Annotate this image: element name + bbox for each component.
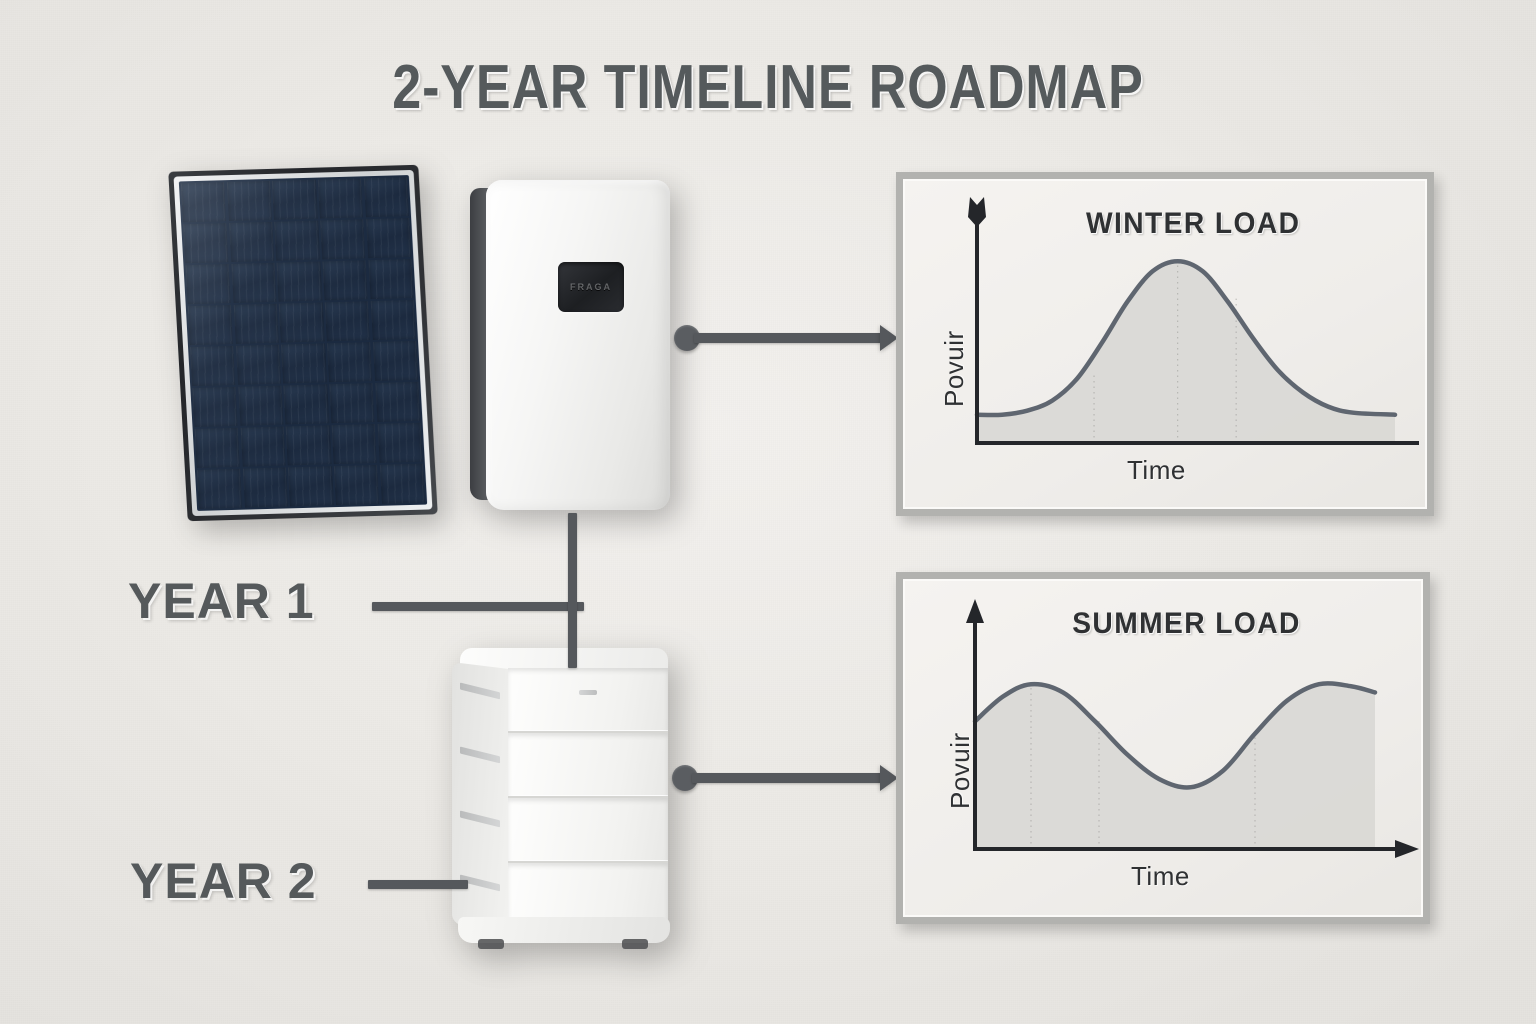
solar-cell [238, 386, 283, 426]
chart-area-fill [975, 683, 1375, 849]
year2-connector-line [368, 880, 468, 889]
solar-cell [231, 263, 276, 303]
solar-cell [185, 264, 230, 304]
solar-cell [272, 180, 317, 220]
solar-cell [332, 424, 377, 464]
solar-cell [373, 341, 418, 381]
page-title: 2-YEAR TIMELINE ROADMAP [123, 52, 1413, 123]
summer-x-axis-label: Time [1131, 861, 1190, 892]
solar-cell [375, 382, 420, 422]
battery-foot [622, 939, 648, 949]
solar-cell [377, 423, 422, 463]
battery-left-face [452, 662, 514, 932]
solar-cell [243, 468, 288, 508]
winter-y-axis-label: Povuir [939, 330, 970, 407]
battery-module-tag [460, 811, 500, 828]
solar-cell [286, 426, 331, 466]
solar-cell [181, 182, 226, 222]
solar-cell [275, 221, 320, 261]
battery-module [508, 796, 668, 861]
solar-cell-grid [179, 175, 427, 511]
chart-area-fill [977, 261, 1395, 443]
solar-cell [288, 467, 333, 507]
solar-cell [183, 223, 228, 263]
x-axis-arrow-icon [1395, 840, 1419, 858]
solar-cell [229, 222, 274, 262]
solar-cell [380, 464, 425, 504]
battery-foot [478, 939, 504, 949]
solar-cell [334, 465, 379, 505]
solar-cell [325, 301, 370, 341]
solar-cell [233, 304, 278, 344]
solar-cell [329, 383, 374, 423]
solar-cell [320, 219, 365, 259]
inverter-to-winter-line [694, 333, 890, 343]
solar-cell [371, 300, 416, 340]
summer-y-axis-label: Povuir [945, 732, 976, 809]
solar-cell [188, 305, 233, 345]
solar-cell [236, 345, 281, 385]
solar-cell [284, 385, 329, 425]
year-1-label: YEAR 1 [128, 572, 315, 630]
battery-module-tag [460, 747, 500, 764]
solar-cell [240, 427, 285, 467]
battery-module-tag [460, 683, 500, 700]
battery-module [508, 668, 668, 731]
battery-to-summer-line [692, 773, 890, 783]
solar-panel [168, 165, 438, 521]
battery-stack [452, 648, 676, 943]
summer-chart-area: SUMMER LOAD Povuir Time [903, 579, 1423, 917]
inverter-brand-label: FRAGA [570, 282, 612, 292]
solar-cell [279, 303, 324, 343]
solar-cell [197, 469, 242, 509]
battery-module [508, 731, 668, 796]
winter-chart-area: WINTER LOAD Povuir Time [903, 179, 1427, 509]
winter-load-panel: WINTER LOAD Povuir Time [896, 172, 1434, 516]
inverter: FRAGA [470, 180, 670, 510]
solar-cell [192, 387, 237, 427]
solar-panel-frame [168, 165, 438, 521]
winter-x-axis-label: Time [1127, 455, 1186, 486]
solar-cell [364, 177, 409, 217]
battery-status-led [579, 690, 597, 695]
solar-cell [318, 178, 363, 218]
year1-connector-line [372, 602, 584, 611]
solar-cell [190, 346, 235, 386]
solar-cell [227, 181, 272, 221]
solar-cell [323, 260, 368, 300]
inverter-display: FRAGA [558, 262, 624, 312]
solar-cell [327, 342, 372, 382]
summer-chart-title: SUMMER LOAD [920, 607, 1405, 641]
solar-cell [281, 344, 326, 384]
summer-load-panel: SUMMER LOAD Povuir Time [896, 572, 1430, 924]
battery-front-face [508, 668, 668, 926]
solar-cell [195, 428, 240, 468]
solar-cell [368, 259, 413, 299]
roadmap-canvas: 2-YEAR TIMELINE ROADMAP FRAGA [0, 0, 1536, 1024]
year-2-label: YEAR 2 [130, 852, 317, 910]
winter-chart-title: WINTER LOAD [921, 207, 1410, 241]
solar-cell [366, 218, 411, 258]
solar-cell [277, 262, 322, 302]
inverter-body: FRAGA [486, 180, 670, 510]
inverter-battery-connector-line [568, 513, 577, 668]
